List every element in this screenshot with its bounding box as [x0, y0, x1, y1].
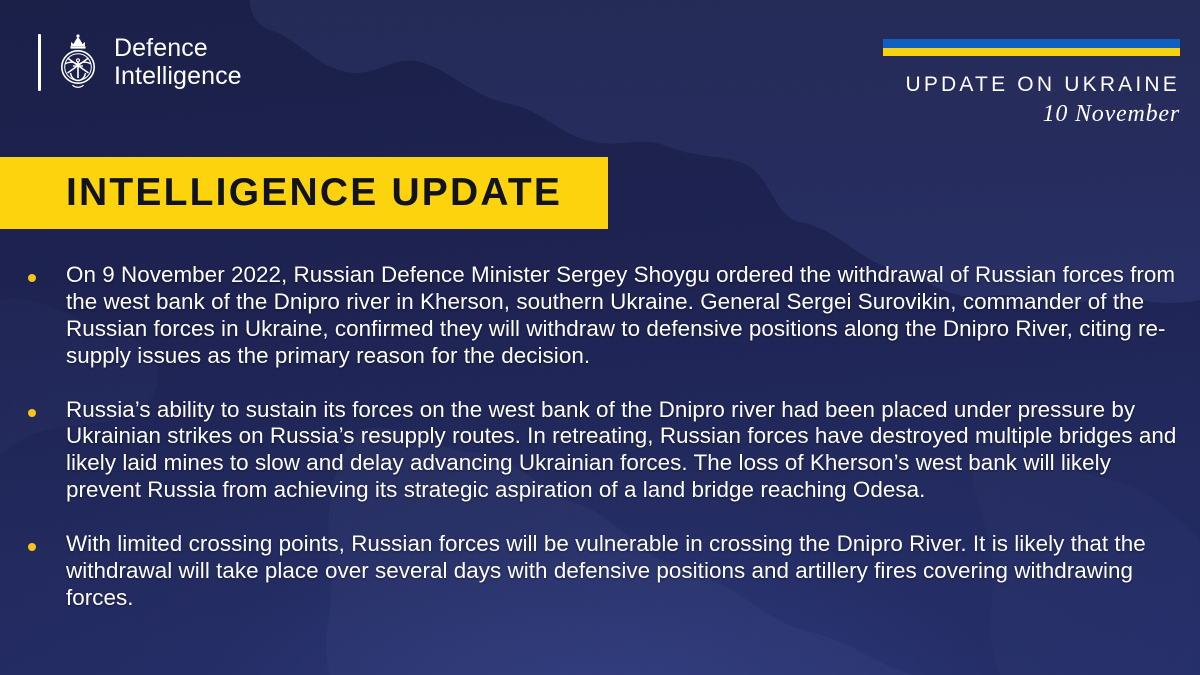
bullet-dot-icon	[28, 543, 36, 551]
brand-text: Defence Intelligence	[114, 34, 242, 90]
list-item: Russia’s ability to sustain its forces o…	[22, 397, 1182, 505]
bullet-text: On 9 November 2022, Russian Defence Mini…	[66, 262, 1182, 370]
brand-divider-rule	[38, 34, 41, 91]
bullet-text: Russia’s ability to sustain its forces o…	[66, 397, 1182, 505]
ukraine-flag-bar-icon	[883, 39, 1180, 56]
flag-stripe-yellow	[883, 48, 1180, 57]
brand-line-defence: Defence	[114, 34, 242, 62]
list-item: On 9 November 2022, Russian Defence Mini…	[22, 262, 1182, 370]
bullet-list: On 9 November 2022, Russian Defence Mini…	[22, 262, 1182, 612]
bullet-text: With limited crossing points, Russian fo…	[66, 531, 1182, 612]
bullet-dot-icon	[28, 274, 36, 282]
banner-label: INTELLIGENCE UPDATE	[66, 171, 562, 215]
update-date: 10 November	[1043, 101, 1180, 128]
update-on-ukraine-title: UPDATE ON UKRAINE	[905, 73, 1180, 97]
defence-intelligence-crest-icon	[55, 33, 101, 91]
brand-lockup: Defence Intelligence	[38, 33, 242, 91]
intelligence-update-slide: Defence Intelligence UPDATE ON UKRAINE 1…	[0, 0, 1200, 675]
list-item: With limited crossing points, Russian fo…	[22, 531, 1182, 612]
flag-stripe-blue	[883, 39, 1180, 48]
bullet-dot-icon	[28, 409, 36, 417]
brand-line-intelligence: Intelligence	[114, 62, 242, 90]
intelligence-update-banner: INTELLIGENCE UPDATE	[0, 157, 608, 229]
